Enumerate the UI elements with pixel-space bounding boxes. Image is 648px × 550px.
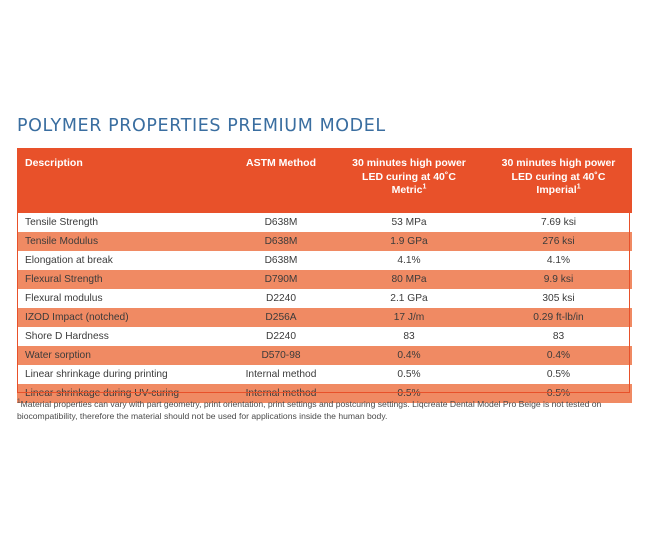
cell-imperial: 305 ksi xyxy=(485,289,632,308)
cell-astm-method: D570-98 xyxy=(229,346,333,365)
cell-metric: 83 xyxy=(333,327,485,346)
cell-metric: 80 MPa xyxy=(333,270,485,289)
cell-description: Linear shrinkage during printing xyxy=(17,365,229,384)
cell-metric: 0.4% xyxy=(333,346,485,365)
cell-description: Flexural modulus xyxy=(17,289,229,308)
cell-astm-method: D638M xyxy=(229,232,333,251)
document-page: POLYMER PROPERTIES PREMIUM MODEL Descrip… xyxy=(0,0,648,550)
table-row: Linear shrinkage during printingInternal… xyxy=(17,365,632,384)
column-header-imperial-line3: Imperial xyxy=(536,184,576,196)
table-row: Elongation at breakD638M4.1%4.1% xyxy=(17,251,632,270)
cell-astm-method: D2240 xyxy=(229,289,333,308)
column-header-metric-line1: 30 minutes high power xyxy=(352,157,466,169)
cell-astm-method: D790M xyxy=(229,270,333,289)
cell-astm-method: D2240 xyxy=(229,327,333,346)
footnote: 1Material properties can vary with part … xyxy=(17,399,631,422)
table-row: Flexural modulusD22402.1 GPa305 ksi xyxy=(17,289,632,308)
cell-description: Flexural Strength xyxy=(17,270,229,289)
cell-imperial: 0.5% xyxy=(485,365,632,384)
cell-metric: 53 MPa xyxy=(333,213,485,232)
column-header-metric-footnote-ref: 1 xyxy=(423,184,427,191)
cell-imperial: 276 ksi xyxy=(485,232,632,251)
cell-astm-method: D638M xyxy=(229,213,333,232)
cell-description: Tensile Strength xyxy=(17,213,229,232)
table-body: Tensile StrengthD638M53 MPa7.69 ksiTensi… xyxy=(17,213,632,403)
cell-metric: 2.1 GPa xyxy=(333,289,485,308)
cell-imperial: 9.9 ksi xyxy=(485,270,632,289)
cell-description: IZOD Impact (notched) xyxy=(17,308,229,327)
table-header-row: Description ASTM Method 30 minutes high … xyxy=(17,148,632,213)
cell-imperial: 83 xyxy=(485,327,632,346)
cell-description: Water sorption xyxy=(17,346,229,365)
cell-metric: 17 J/m xyxy=(333,308,485,327)
column-header-metric-line3: Metric xyxy=(392,184,423,196)
cell-imperial: 0.4% xyxy=(485,346,632,365)
cell-metric: 1.9 GPa xyxy=(333,232,485,251)
table-row: Tensile StrengthD638M53 MPa7.69 ksi xyxy=(17,213,632,232)
polymer-properties-table: Description ASTM Method 30 minutes high … xyxy=(17,148,632,403)
cell-description: Shore D Hardness xyxy=(17,327,229,346)
cell-astm-method: D638M xyxy=(229,251,333,270)
column-header-imperial-line1: 30 minutes high power xyxy=(502,157,616,169)
polymer-properties-table-container: Description ASTM Method 30 minutes high … xyxy=(17,148,632,403)
table-row: IZOD Impact (notched)D256A17 J/m0.29 ft-… xyxy=(17,308,632,327)
column-header-imperial-footnote-ref: 1 xyxy=(577,184,581,191)
cell-imperial: 7.69 ksi xyxy=(485,213,632,232)
column-header-astm-method: ASTM Method xyxy=(229,148,333,213)
table-header: Description ASTM Method 30 minutes high … xyxy=(17,148,632,213)
cell-astm-method: D256A xyxy=(229,308,333,327)
column-header-metric: 30 minutes high power LED curing at 40˚C… xyxy=(333,148,485,213)
page-title: POLYMER PROPERTIES PREMIUM MODEL xyxy=(17,116,386,136)
cell-imperial: 4.1% xyxy=(485,251,632,270)
column-header-imperial-line2: LED curing at 40˚C xyxy=(512,171,606,183)
footnote-text: Material properties can vary with part g… xyxy=(17,399,601,421)
table-row: Shore D HardnessD22408383 xyxy=(17,327,632,346)
table-row: Flexural StrengthD790M80 MPa9.9 ksi xyxy=(17,270,632,289)
column-header-description: Description xyxy=(17,148,229,213)
cell-astm-method: Internal method xyxy=(229,365,333,384)
column-header-metric-line2: LED curing at 40˚C xyxy=(362,171,456,183)
cell-description: Elongation at break xyxy=(17,251,229,270)
cell-description: Tensile Modulus xyxy=(17,232,229,251)
table-row: Tensile ModulusD638M1.9 GPa276 ksi xyxy=(17,232,632,251)
cell-metric: 4.1% xyxy=(333,251,485,270)
cell-metric: 0.5% xyxy=(333,365,485,384)
cell-imperial: 0.29 ft-lb/in xyxy=(485,308,632,327)
column-header-imperial: 30 minutes high power LED curing at 40˚C… xyxy=(485,148,632,213)
table-row: Water sorptionD570-980.4%0.4% xyxy=(17,346,632,365)
